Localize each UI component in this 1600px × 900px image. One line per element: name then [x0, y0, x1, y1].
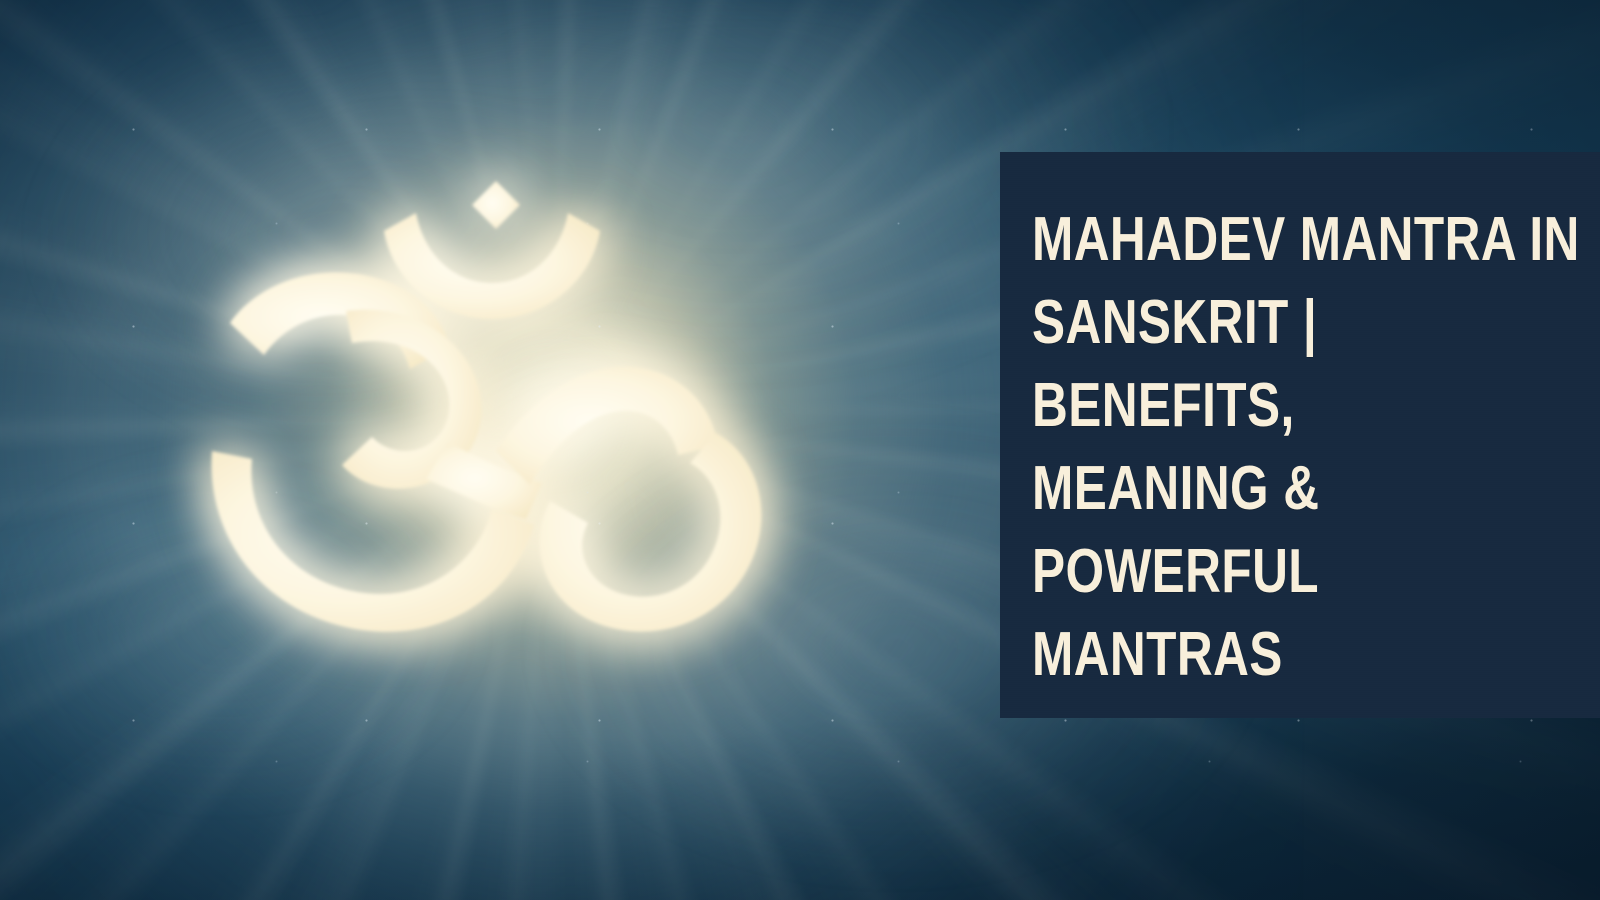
om-glyph — [212, 181, 762, 632]
page-title: MAHADEV MANTRA IN SANSKRIT | BENEFITS, M… — [1032, 198, 1592, 696]
title-panel: MAHADEV MANTRA IN SANSKRIT | BENEFITS, M… — [1000, 152, 1600, 718]
om-symbol — [196, 183, 796, 653]
banner-image: MAHADEV MANTRA IN SANSKRIT | BENEFITS, M… — [0, 0, 1600, 900]
om-glyph-glow — [212, 181, 762, 632]
